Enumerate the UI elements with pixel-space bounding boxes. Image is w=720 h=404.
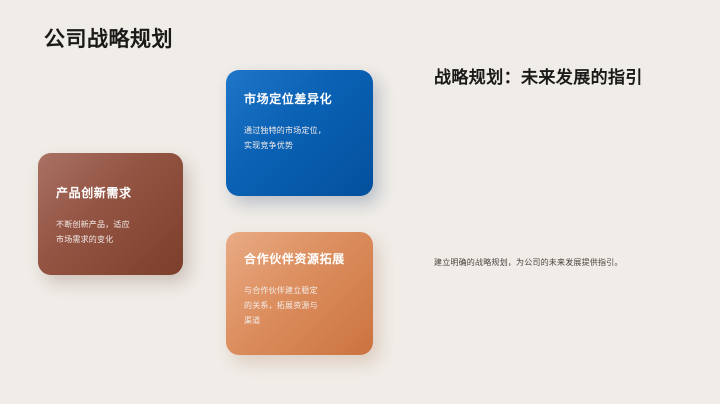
card-title: 产品创新需求 xyxy=(56,186,132,200)
card-title: 市场定位差异化 xyxy=(244,92,332,106)
page-title: 公司战略规划 xyxy=(44,28,173,52)
card-body: 通过独特的市场定位， 实现竞争优势 xyxy=(244,124,326,154)
right-panel-body: 建立明确的战略规划，为公司的未来发展提供指引。 xyxy=(434,256,684,270)
right-panel-heading: 战略规划：未来发展的指引 xyxy=(434,66,654,91)
card-body: 与合作伙伴建立稳定 的关系，拓展资源与 渠道 xyxy=(244,284,318,328)
slide-canvas: 公司战略规划 产品创新需求 不断创新产品，适应 市场需求的变化 市场定位差异化 … xyxy=(0,0,720,404)
card-body: 不断创新产品，适应 市场需求的变化 xyxy=(56,218,130,248)
card-product-innovation[interactable]: 产品创新需求 不断创新产品，适应 市场需求的变化 xyxy=(38,153,183,275)
card-partner-resources[interactable]: 合作伙伴资源拓展 与合作伙伴建立稳定 的关系，拓展资源与 渠道 xyxy=(226,232,373,355)
card-title: 合作伙伴资源拓展 xyxy=(244,252,345,266)
card-market-positioning[interactable]: 市场定位差异化 通过独特的市场定位， 实现竞争优势 xyxy=(226,70,373,196)
